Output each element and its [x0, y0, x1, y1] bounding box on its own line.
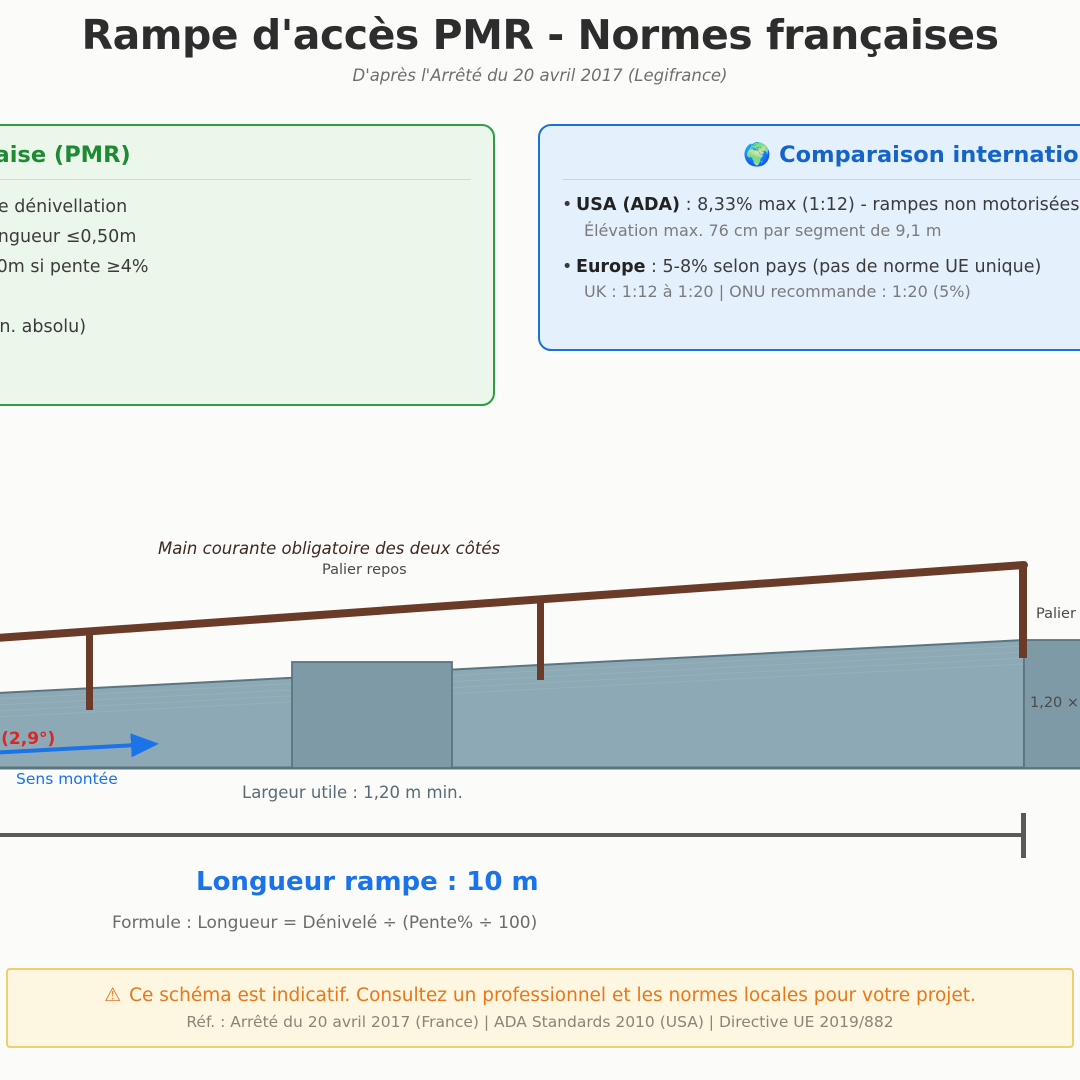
slope-label: Pente : 5% (2,9°) — [0, 729, 55, 749]
warning-triangle-icon: ⚠ — [104, 986, 121, 1005]
width-dimension-label: Largeur utile : 1,20 m min. — [242, 783, 463, 802]
panel-french-line-2c: si longueur ≤0,50m — [0, 227, 136, 247]
handrail-rail — [0, 565, 1024, 642]
footer-warning-text: Ce schéma est indicatif. Consultez un pr… — [129, 985, 976, 1006]
bullet-icon: • — [562, 254, 576, 281]
panel-international-item-0-label: USA (ADA) — [576, 195, 680, 215]
footer-warning: ⚠ Ce schéma est indicatif. Consultez un … — [104, 985, 976, 1006]
ramp-formula-label: Formule : Longueur = Dénivelé ÷ (Pente% … — [112, 913, 537, 933]
handrail-post — [537, 598, 544, 680]
ramp-length-label: Longueur rampe : 10 m — [196, 867, 539, 897]
panel-international-item-1-value: : 5-8% selon pays (pas de norme UE uniqu… — [645, 257, 1041, 277]
panel-french-line-4: Palier repos : 1,20m × 1,40m — [0, 282, 471, 312]
panel-french-title: Réglementation française (PMR) — [0, 142, 471, 179]
ramp-deck — [0, 640, 1024, 768]
panel-international-item-0: •USA (ADA) : 8,33% max (1:12) - rampes n… — [562, 192, 1080, 219]
panel-international-item-0-sub: Élévation max. 76 cm par segment de 9,1 … — [562, 219, 1080, 243]
panel-international-comparison: 🌍 Comparaison internationale •USA (ADA) … — [538, 124, 1080, 351]
disclaimer-footer: ⚠ Ce schéma est indicatif. Consultez un … — [6, 968, 1074, 1048]
panel-french-line-2: 8% si longueur ≤2m ; 10% si longueur ≤0,… — [0, 222, 471, 252]
page-title: Rampe d'accès PMR - Normes françaises — [0, 14, 1080, 57]
panel-french-line-3: Paliers tous les 10m ; tous les 10m si p… — [0, 252, 471, 282]
handrail-post — [1019, 565, 1027, 658]
footer-references: Réf. : Arrêté du 20 avril 2017 (France) … — [186, 1013, 893, 1031]
handrail-note: Main courante obligatoire des deux côtés — [158, 539, 500, 558]
panel-international-title-text: Comparaison internationale — [779, 142, 1080, 168]
panel-french-line-1: Pente max. 5% pour franchir une dénivell… — [0, 192, 471, 222]
ramp-diagram: Main courante obligatoire des deux côtés… — [0, 430, 1080, 940]
panel-international-title: 🌍 Comparaison internationale — [562, 142, 1080, 179]
panel-french-divider — [0, 179, 471, 180]
bullet-icon: • — [562, 192, 576, 219]
panel-french-line-5: Largeur utile : 1,20m (0,90m min. absolu… — [0, 312, 471, 342]
rest-landing-platform — [292, 662, 452, 768]
infographic-canvas: Rampe d'accès PMR - Normes françaises D'… — [0, 0, 1080, 1080]
panel-french-regulation: Réglementation française (PMR) Pente max… — [0, 124, 495, 406]
length-dimension-tick — [1021, 813, 1026, 858]
panel-international-item-1-sub: UK : 1:12 à 1:20 | ONU recommande : 1:20… — [562, 280, 1080, 304]
top-landing-label: Palier haut — [1036, 606, 1080, 622]
panel-international-divider — [562, 179, 1080, 180]
header: Rampe d'accès PMR - Normes françaises D'… — [0, 14, 1080, 85]
handrail-post — [86, 630, 93, 710]
rest-landing-label: Palier repos — [322, 562, 407, 578]
panel-international-item-0-value: : 8,33% max (1:12) - rampes non motorisé… — [680, 195, 1079, 215]
top-landing-dims: 1,20 × 1,40m — [1030, 695, 1080, 711]
info-panels: Réglementation française (PMR) Pente max… — [0, 120, 1080, 410]
panel-international-item-1-label: Europe — [576, 257, 645, 277]
globe-icon: 🌍 — [743, 142, 771, 168]
direction-label: Sens montée — [16, 770, 118, 788]
page-subtitle: D'après l'Arrêté du 20 avril 2017 (Legif… — [0, 66, 1080, 85]
panel-international-item-1: •Europe : 5-8% selon pays (pas de norme … — [562, 254, 1080, 281]
